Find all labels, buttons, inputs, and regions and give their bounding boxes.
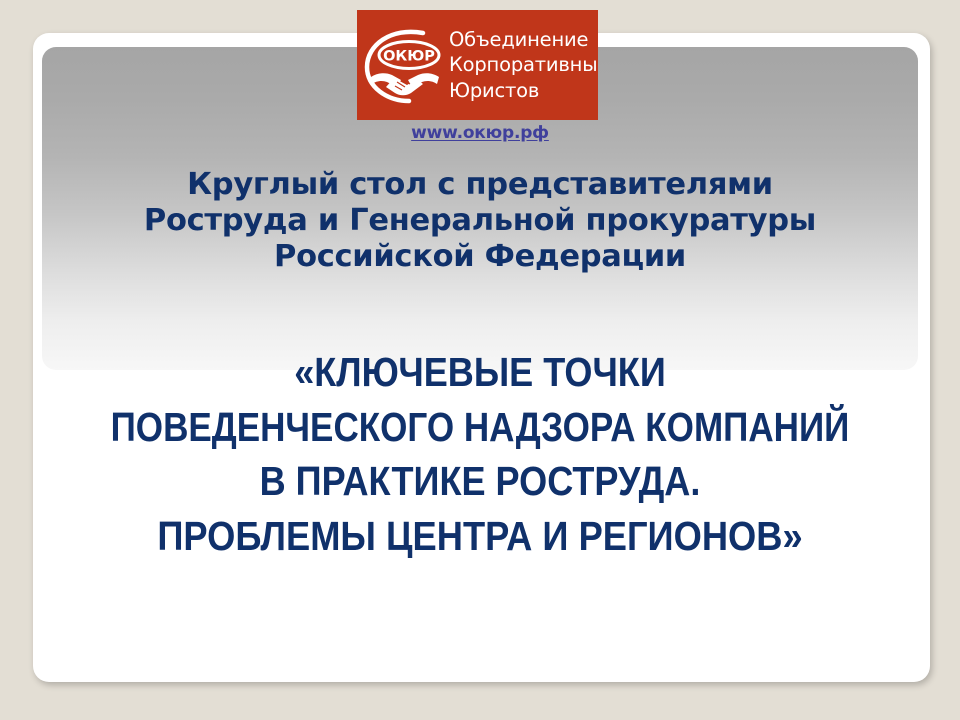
organization-name: Объединение Корпоративных Юристов xyxy=(447,27,598,102)
subtitle-line-3: Российской Федерации xyxy=(42,239,918,275)
organization-logo: ОКЮР Объединение Корпоративных Юристов xyxy=(357,10,598,120)
subtitle-line-2: Роструда и Генеральной прокуратуры xyxy=(42,203,918,239)
logo-name-line-1: Объединение xyxy=(449,27,598,52)
svg-text:ОКЮР: ОКЮР xyxy=(383,49,435,65)
website-link[interactable]: www.окюр.рф xyxy=(0,123,960,143)
title-line-3: В ПРАКТИКЕ РОСТРУДА. xyxy=(73,454,886,509)
title-line-1: «КЛЮЧЕВЫЕ ТОЧКИ xyxy=(73,345,886,400)
slide-title: «КЛЮЧЕВЫЕ ТОЧКИ ПОВЕДЕНЧЕСКОГО НАДЗОРА К… xyxy=(18,345,942,563)
slide-subtitle: Круглый стол с представителями Роструда … xyxy=(42,167,918,275)
presentation-slide: ОКЮР Объединение Корпоративных Юристов w xyxy=(0,0,960,720)
title-line-4: ПРОБЛЕМЫ ЦЕНТРА И РЕГИОНОВ» xyxy=(71,509,889,564)
handshake-emblem-icon: ОКЮР xyxy=(361,19,447,111)
logo-name-line-3: Юристов xyxy=(449,78,598,103)
title-line-2: ПОВЕДЕНЧЕСКОГО НАДЗОРА КОМПАНИЙ xyxy=(85,400,875,455)
logo-name-line-2: Корпоративных xyxy=(449,52,598,77)
subtitle-line-1: Круглый стол с представителями xyxy=(42,167,918,203)
